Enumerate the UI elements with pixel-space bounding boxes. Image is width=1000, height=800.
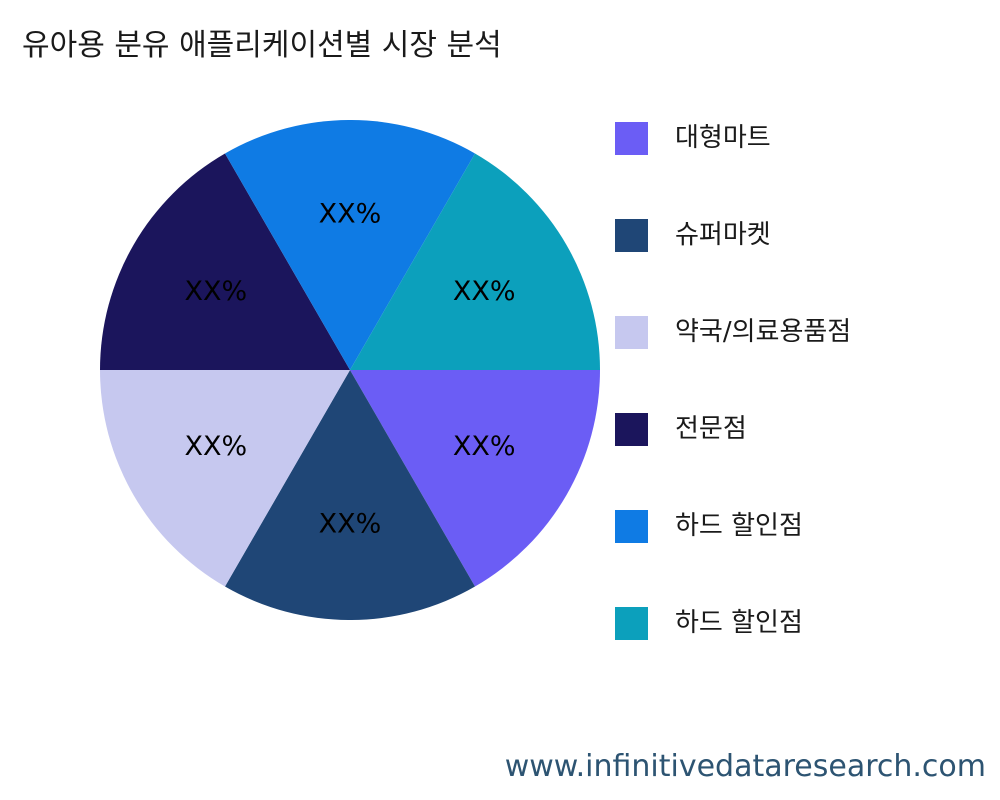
legend-item[interactable]: 대형마트 bbox=[615, 120, 995, 217]
legend-item-label: 하드 할인점 bbox=[675, 605, 803, 641]
legend-color-swatch bbox=[615, 413, 648, 446]
pie-slice-group bbox=[100, 120, 600, 620]
page-title: 유아용 분유 애플리케이션별 시장 분석 bbox=[22, 26, 502, 66]
legend: 대형마트슈퍼마켓약국/의료용품점전문점하드 할인점하드 할인점 bbox=[615, 120, 995, 702]
legend-item[interactable]: 하드 할인점 bbox=[615, 508, 995, 605]
legend-color-swatch bbox=[615, 219, 648, 252]
legend-item[interactable]: 하드 할인점 bbox=[615, 605, 995, 702]
pie-slice-label: XX% bbox=[319, 509, 382, 540]
legend-color-swatch bbox=[615, 316, 648, 349]
legend-color-swatch bbox=[615, 122, 648, 155]
pie-slice-label: XX% bbox=[453, 431, 516, 462]
legend-item[interactable]: 전문점 bbox=[615, 411, 995, 508]
legend-item-label: 하드 할인점 bbox=[675, 508, 803, 544]
legend-item[interactable]: 슈퍼마켓 bbox=[615, 217, 995, 314]
legend-item-label: 대형마트 bbox=[675, 120, 771, 156]
legend-item-label: 전문점 bbox=[675, 411, 747, 447]
pie-chart: XX%XX%XX%XX%XX%XX% bbox=[100, 120, 600, 620]
legend-color-swatch bbox=[615, 607, 648, 640]
legend-item[interactable]: 약국/의료용품점 bbox=[615, 314, 995, 411]
pie-slice-label: XX% bbox=[184, 276, 247, 307]
footer-url: www.infinitivedataresearch.com bbox=[0, 749, 986, 784]
pie-chart-svg: XX%XX%XX%XX%XX%XX% bbox=[100, 120, 600, 620]
pie-slice-label: XX% bbox=[453, 276, 516, 307]
legend-item-label: 슈퍼마켓 bbox=[675, 217, 771, 253]
pie-slice-label: XX% bbox=[319, 199, 382, 230]
legend-item-label: 약국/의료용품점 bbox=[675, 314, 851, 350]
legend-color-swatch bbox=[615, 510, 648, 543]
pie-slice-label: XX% bbox=[184, 431, 247, 462]
